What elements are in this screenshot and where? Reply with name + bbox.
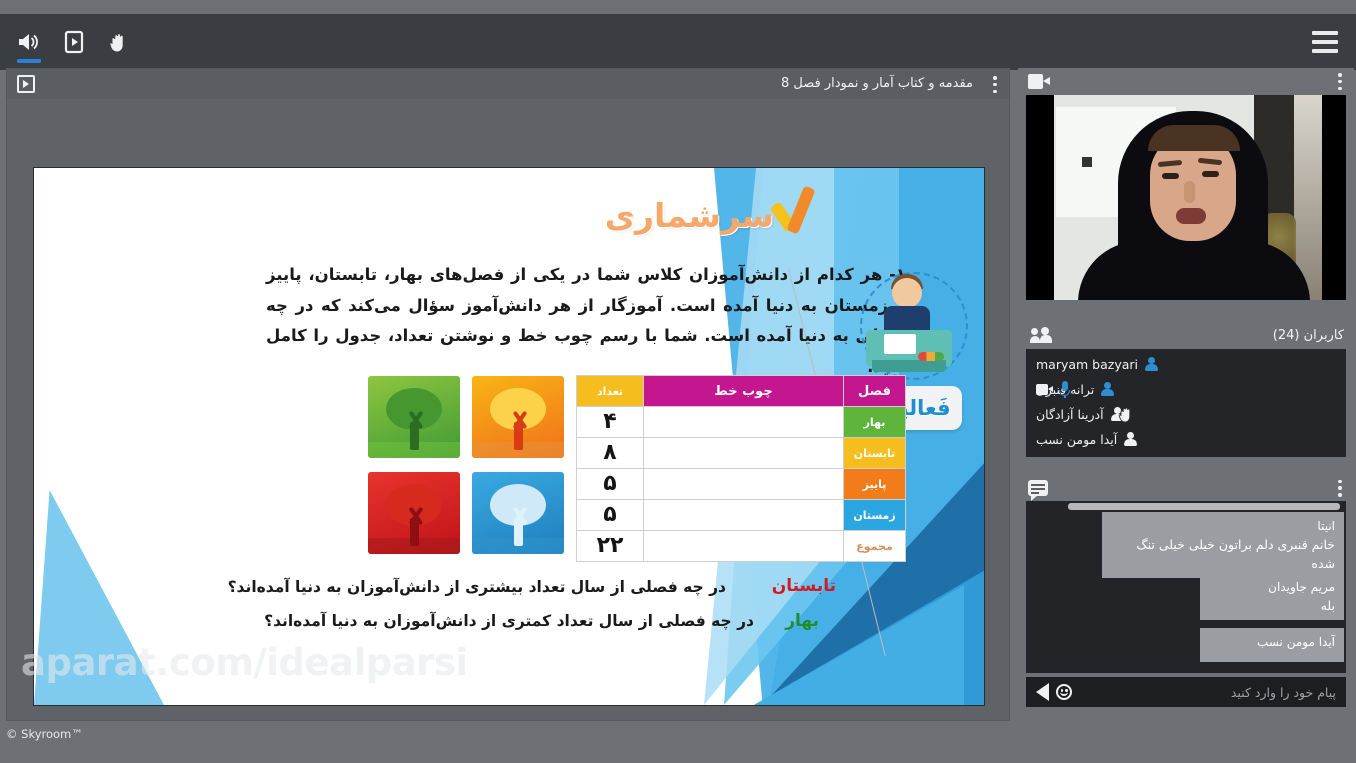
cell-count: ۵ [577, 469, 644, 500]
cell-tally [644, 531, 844, 562]
table-row: تابستان ۸ [577, 438, 906, 469]
cell-season: بهار [844, 407, 906, 438]
table-header-count: تعداد [577, 376, 644, 407]
message-sender: مریم جاویدان [1209, 578, 1335, 596]
message-sender: انیتا [1111, 517, 1335, 535]
speaker-video-feed[interactable] [1026, 95, 1346, 300]
presentation-stage: مقدمه و کتاب آمار و نمودار فصل 8 سرشماری [6, 68, 1010, 721]
menu-bar-3 [1312, 49, 1338, 53]
chat-header [1018, 474, 1354, 502]
cell-count: ۸ [577, 438, 644, 469]
watermark-url: aparat.com/idealparsi [21, 641, 468, 684]
answer-2: بهار [785, 611, 819, 631]
participant-status-icons [1036, 381, 1070, 398]
video-more-options-icon[interactable] [1338, 73, 1342, 90]
table-header-season: فصل [844, 376, 906, 407]
presentation-body: سرشماری ۱- هر کدام از دانش‌آموزان کلاس ش… [7, 99, 1009, 722]
participants-panel: کاربران (24) maryam bazyari ترانه قنبری … [1018, 320, 1354, 466]
participants-header: کاربران (24) [1018, 320, 1354, 350]
list-item[interactable]: آیدا مومن نسب [1026, 427, 1346, 452]
cell-season: مجموع [844, 531, 906, 562]
cell-tally [644, 469, 844, 500]
student-illustration-icon [854, 256, 974, 391]
cell-tally [644, 438, 844, 469]
people-icon [1030, 327, 1054, 343]
camera-icon[interactable] [1036, 384, 1053, 395]
chat-message: مریم جاویدان بله [1200, 573, 1344, 620]
cell-season: پاییز [844, 469, 906, 500]
menu-bar-2 [1312, 40, 1338, 44]
table-row: زمستان ۵ [577, 500, 906, 531]
chat-input-bar[interactable]: پیام خود را وارد کنید [1026, 677, 1346, 707]
cell-count: ۴ [577, 407, 644, 438]
message-text: خانم قنبری دلم براتون خیلی خیلی تنگ شده [1111, 535, 1335, 573]
microphone-icon[interactable] [1059, 381, 1070, 398]
cell-count: ۲۲ [577, 531, 644, 562]
list-item[interactable]: آدرینا آزادگان [1026, 402, 1346, 427]
checkmark-icon [769, 186, 819, 238]
slide-heading: سرشماری [605, 196, 774, 235]
tally-table: فصل چوب خط تعداد بهار ۴ تابستان [576, 375, 906, 562]
user-icon [1100, 382, 1115, 397]
hand-cursor-icon [1118, 404, 1136, 424]
question-2: در چه فصلی از سال تعداد کمتری از دانش‌آم… [264, 612, 754, 630]
slide-canvas: سرشماری ۱- هر کدام از دانش‌آموزان کلاس ش… [34, 168, 984, 705]
participants-list[interactable]: maryam bazyari ترانه قنبری آدرینا آزادگا… [1026, 349, 1346, 457]
video-toggle-icon[interactable] [59, 27, 89, 57]
raise-hand-icon[interactable] [104, 27, 134, 57]
cell-season: تابستان [844, 438, 906, 469]
emoji-icon[interactable] [1056, 684, 1072, 700]
participant-name: آیدا مومن نسب [1036, 432, 1117, 447]
presentation-title: مقدمه و کتاب آمار و نمودار فصل 8 [781, 69, 973, 99]
camera-icon[interactable] [1028, 74, 1050, 89]
cell-count: ۵ [577, 500, 644, 531]
video-panel [1018, 68, 1354, 312]
spring-tree-image [368, 376, 460, 458]
chat-message: آیدا مومن نسب [1200, 628, 1344, 662]
participants-title: کاربران (24) [1273, 328, 1344, 343]
top-toolbar [0, 14, 1356, 70]
presentation-more-options-icon[interactable] [993, 76, 997, 93]
video-panel-header [1018, 68, 1354, 95]
table-row: بهار ۴ [577, 407, 906, 438]
hamburger-menu-icon[interactable] [1312, 31, 1338, 53]
chat-panel: انیتا خانم قنبری دلم براتون خیلی خیلی تن… [1018, 474, 1354, 717]
message-sender: آیدا مومن نسب [1209, 633, 1335, 651]
menu-bar-1 [1312, 31, 1338, 35]
table-row: مجموع ۲۲ [577, 531, 906, 562]
summer-tree-image [472, 376, 564, 458]
winter-tree-image [472, 472, 564, 554]
cell-season: زمستان [844, 500, 906, 531]
participant-name: maryam bazyari [1036, 357, 1138, 372]
slide-paragraph: ۱- هر کدام از دانش‌آموزان کلاس شما در یک… [266, 260, 906, 382]
speaker-icon[interactable] [14, 27, 44, 57]
chat-horizontal-scrollbar[interactable] [1068, 503, 1340, 510]
send-icon[interactable] [1036, 683, 1049, 701]
table-row: پاییز ۵ [577, 469, 906, 500]
season-photos [361, 376, 566, 556]
autumn-tree-image [368, 472, 460, 554]
active-indicator [17, 59, 41, 63]
skyroom-webinar-window: مقدمه و کتاب آمار و نمودار فصل 8 سرشماری [0, 0, 1356, 763]
table-header-row: فصل چوب خط تعداد [577, 376, 906, 407]
presentation-header: مقدمه و کتاب آمار و نمودار فصل 8 [7, 69, 1009, 99]
table-header-tally: چوب خط [644, 376, 844, 407]
participant-name: آدرینا آزادگان [1036, 407, 1104, 422]
chat-input-placeholder[interactable]: پیام خود را وارد کنید [1231, 685, 1336, 700]
chat-message: انیتا خانم قنبری دلم براتون خیلی خیلی تن… [1102, 512, 1344, 578]
chat-more-options-icon[interactable] [1338, 480, 1342, 497]
screen-share-icon[interactable] [17, 75, 35, 93]
chat-messages[interactable]: انیتا خانم قنبری دلم براتون خیلی خیلی تن… [1026, 501, 1346, 673]
list-item[interactable]: ترانه قنبری [1026, 377, 1346, 402]
cell-tally [644, 500, 844, 531]
user-icon [1144, 357, 1159, 372]
chat-icon [1028, 480, 1048, 496]
question-1: در چه فصلی از سال تعداد بیشتری از دانش‌آ… [228, 578, 726, 596]
answer-1: تابستان [772, 576, 836, 596]
cell-tally [644, 407, 844, 438]
copyright-label: © Skyroom™ [6, 727, 83, 741]
message-text: بله [1209, 596, 1335, 615]
list-item[interactable]: maryam bazyari [1026, 352, 1346, 377]
user-icon [1123, 432, 1138, 447]
